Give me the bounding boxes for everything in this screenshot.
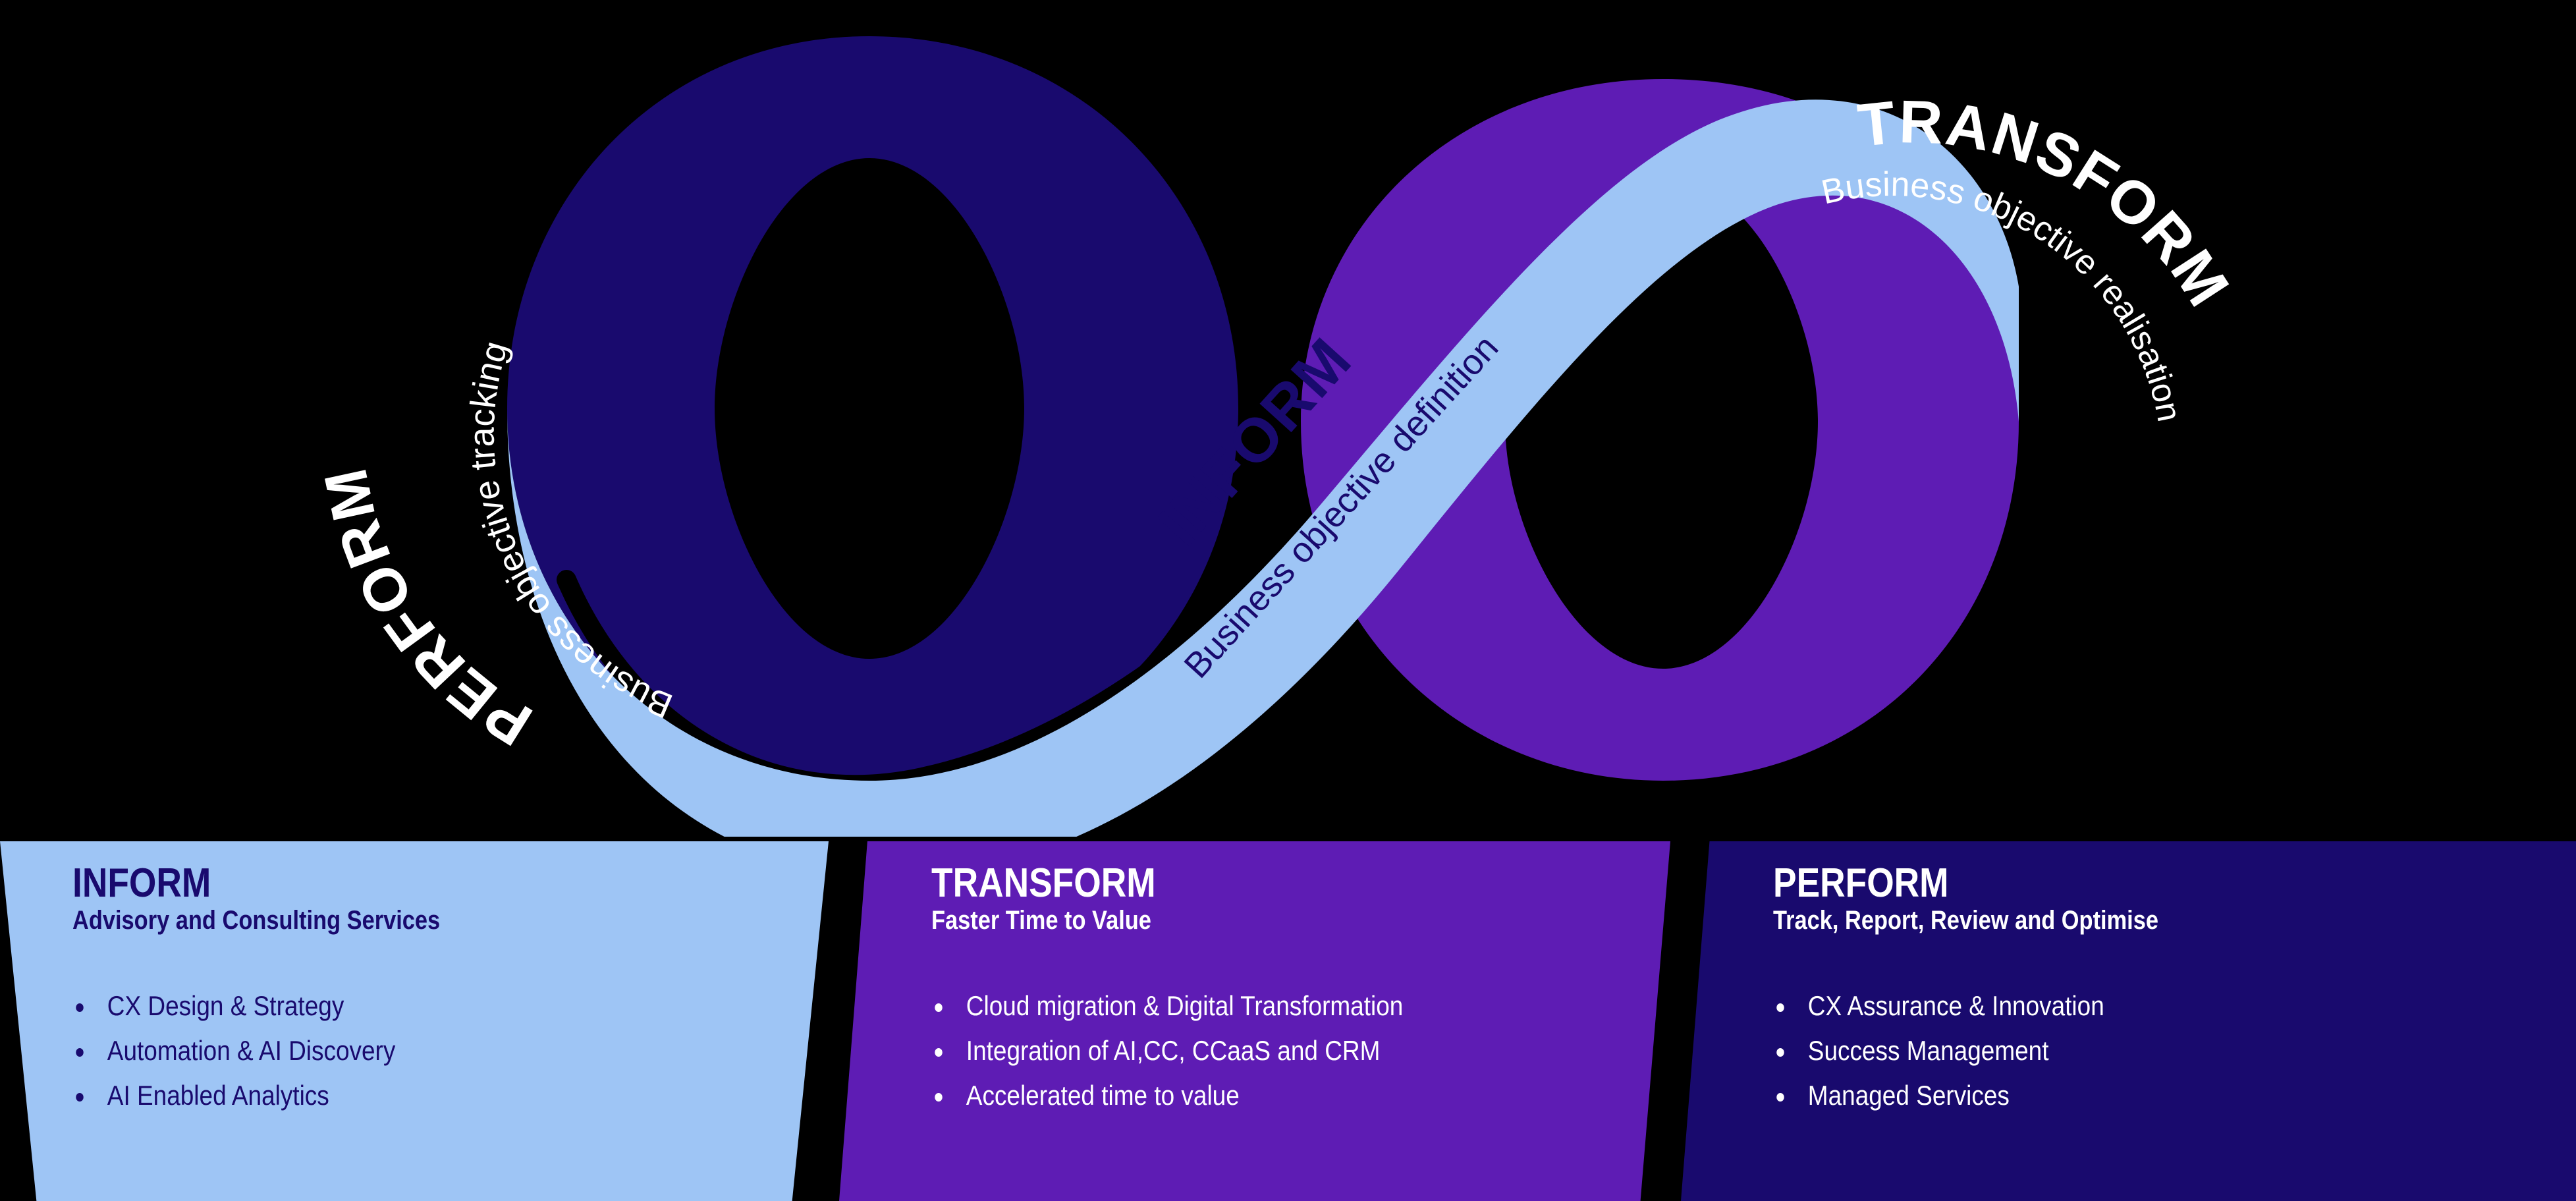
panel-perform-subtitle: Track, Report, Review and Optimise <box>1773 907 2463 934</box>
bullet-icon <box>935 1003 942 1012</box>
panel-transform-title: TRANSFORM <box>931 862 1567 904</box>
panel-inform-list: CX Design & Strategy Automation & AI Dis… <box>72 992 829 1109</box>
bullet-icon <box>1776 1048 1784 1057</box>
bullet-icon <box>1776 1003 1784 1012</box>
panel-perform-list: CX Assurance & Innovation Success Manage… <box>1773 992 2576 1109</box>
list-item: CX Assurance & Innovation <box>1773 992 2480 1020</box>
panel-transform-list: Cloud migration & Digital Transformation… <box>931 992 1670 1109</box>
list-item: Automation & AI Discovery <box>72 1037 738 1065</box>
panel-row: INFORM Advisory and Consulting Services … <box>0 841 2576 1201</box>
list-item-label: CX Design & Strategy <box>107 990 344 1021</box>
list-item: Managed Services <box>1773 1082 2480 1109</box>
bullet-icon <box>935 1093 942 1102</box>
bullet-icon <box>76 1003 83 1012</box>
slide-canvas: PERFORM Business objective tracking INFO… <box>0 0 2576 1201</box>
panel-inform[interactable]: INFORM Advisory and Consulting Services … <box>0 841 829 1201</box>
infinity-lifecycle-diagram: PERFORM Business objective tracking INFO… <box>0 0 2576 837</box>
list-item: CX Design & Strategy <box>72 992 738 1020</box>
list-item: Integration of AI,CC, CCaaS and CRM <box>931 1037 1581 1065</box>
panel-transform-subtitle: Faster Time to Value <box>931 907 1567 934</box>
panel-perform-title: PERFORM <box>1773 862 2463 904</box>
bullet-icon <box>76 1048 83 1057</box>
list-item-label: Automation & AI Discovery <box>107 1035 396 1066</box>
infinity-loop-svg: PERFORM Business objective tracking INFO… <box>0 0 2576 837</box>
panel-inform-subtitle: Advisory and Consulting Services <box>72 907 723 934</box>
list-item: AI Enabled Analytics <box>72 1082 738 1109</box>
list-item-label: Success Management <box>1808 1035 2049 1066</box>
list-item-label: AI Enabled Analytics <box>107 1080 329 1111</box>
list-item-label: Integration of AI,CC, CCaaS and CRM <box>966 1035 1381 1066</box>
list-item: Success Management <box>1773 1037 2480 1065</box>
bullet-icon <box>935 1048 942 1057</box>
list-item-label: CX Assurance & Innovation <box>1808 990 2104 1021</box>
list-item: Cloud migration & Digital Transformation <box>931 992 1581 1020</box>
list-item-label: Cloud migration & Digital Transformation <box>966 990 1404 1021</box>
bullet-icon <box>76 1093 83 1102</box>
panel-transform[interactable]: TRANSFORM Faster Time to Value Cloud mig… <box>839 841 1670 1201</box>
list-item-label: Accelerated time to value <box>966 1080 1240 1111</box>
bullet-icon <box>1776 1093 1784 1102</box>
list-item: Accelerated time to value <box>931 1082 1581 1109</box>
panel-perform[interactable]: PERFORM Track, Report, Review and Optimi… <box>1681 841 2576 1201</box>
panel-inform-title: INFORM <box>72 862 723 904</box>
list-item-label: Managed Services <box>1808 1080 2010 1111</box>
